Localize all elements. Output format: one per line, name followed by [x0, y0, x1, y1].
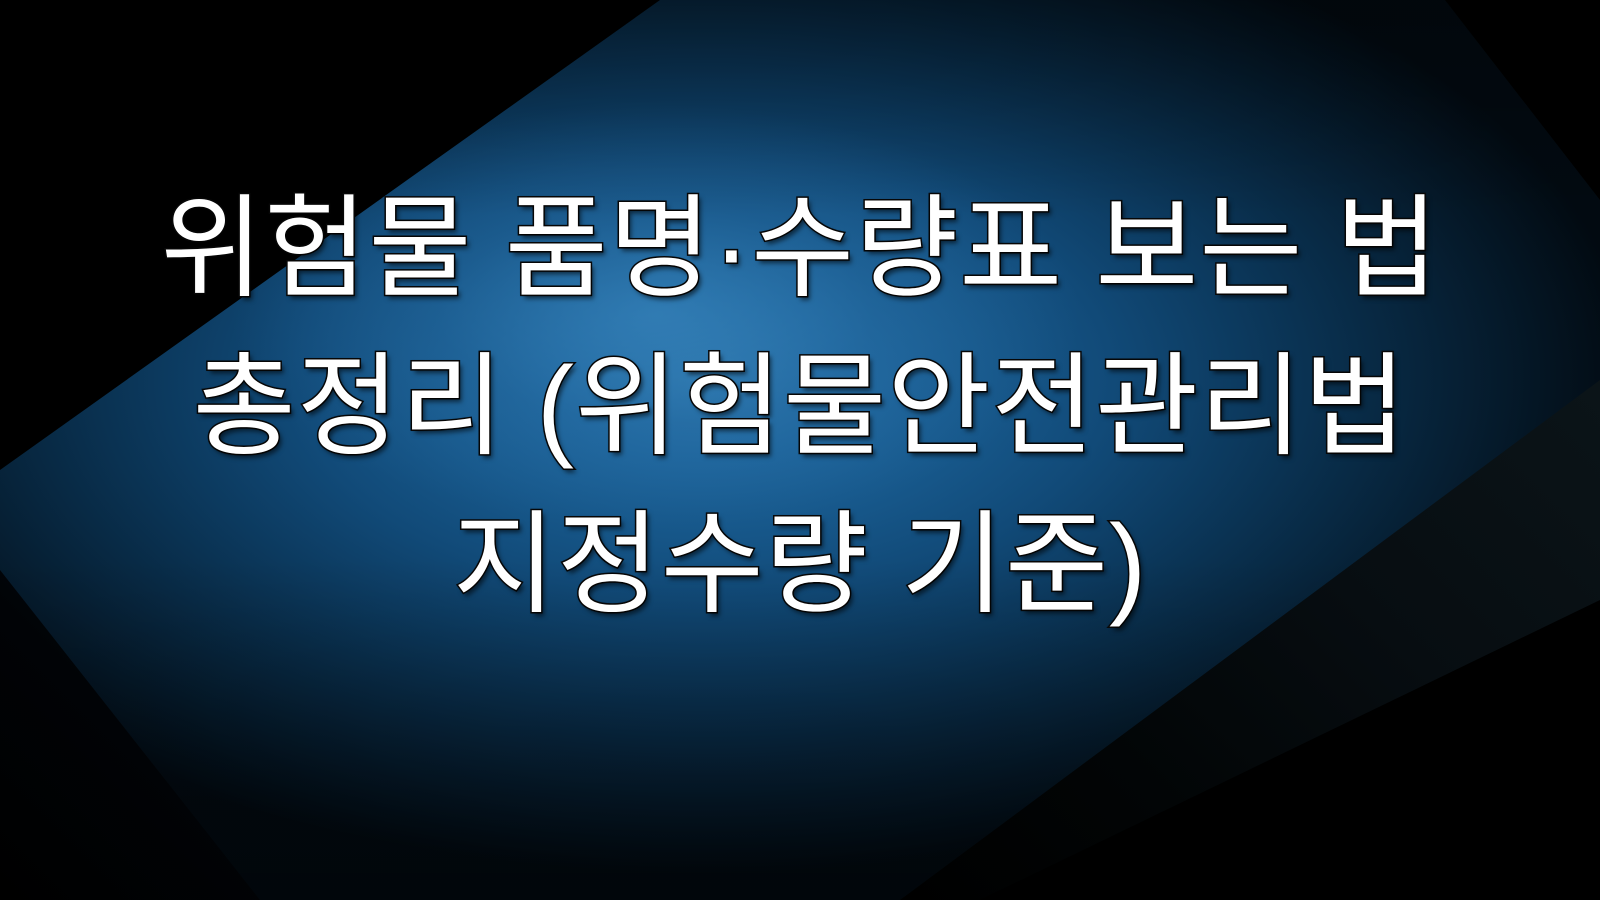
title-line-2: 총정리 (위험물안전관리법	[0, 328, 1600, 486]
title-line-3: 지정수량 기준)	[0, 486, 1600, 644]
title-slide: 위험물 품명·수량표 보는 법 총정리 (위험물안전관리법 지정수량 기준)	[0, 0, 1600, 900]
slide-title: 위험물 품명·수량표 보는 법 총정리 (위험물안전관리법 지정수량 기준)	[0, 170, 1600, 644]
title-line-1: 위험물 품명·수량표 보는 법	[0, 170, 1600, 328]
